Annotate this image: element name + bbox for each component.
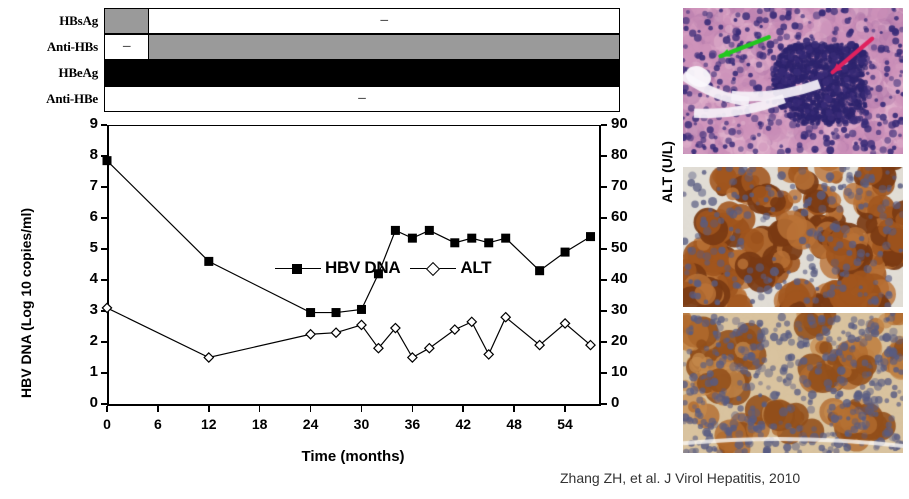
data-point-marker — [501, 234, 510, 243]
data-point-marker — [450, 325, 459, 334]
serology-marker-label: HBeAg — [0, 65, 104, 81]
data-point-marker — [467, 317, 476, 326]
data-point-marker — [408, 234, 417, 243]
data-point-marker — [331, 328, 340, 337]
data-point-marker — [586, 232, 595, 241]
histology-image — [683, 167, 903, 307]
data-point-marker — [467, 234, 476, 243]
serology-marker-label: HBsAg — [0, 13, 104, 29]
serology-segment-white: – — [148, 8, 620, 34]
he-stain-panel — [683, 8, 903, 154]
data-point-marker — [357, 320, 366, 329]
serology-track: – — [104, 8, 620, 34]
data-point-marker — [306, 330, 315, 339]
serology-row: HBsAg– — [0, 8, 620, 34]
data-point-marker — [306, 308, 315, 317]
data-point-marker — [204, 257, 213, 266]
figure-root: HBsAg–Anti-HBs–HBeAgAnti-HBe– HBV DNA (L… — [0, 0, 909, 499]
data-point-marker — [408, 353, 417, 362]
data-point-marker — [425, 226, 434, 235]
series-line-hbv-dna — [107, 161, 591, 313]
data-point-marker — [391, 226, 400, 235]
series-layer — [0, 118, 672, 468]
data-point-marker — [484, 238, 493, 247]
serology-row: Anti-HBe– — [0, 86, 620, 112]
data-point-marker — [535, 266, 544, 275]
data-point-marker — [332, 308, 341, 317]
serology-segment-white: – — [104, 34, 148, 60]
data-point-marker — [103, 156, 112, 165]
series-line-alt — [107, 308, 591, 358]
data-point-marker — [357, 305, 366, 314]
serology-track: – — [104, 34, 620, 60]
data-point-marker — [102, 303, 111, 312]
serology-row: Anti-HBs– — [0, 34, 620, 60]
negative-sign: – — [358, 91, 366, 106]
histology-image — [683, 8, 903, 154]
serology-segment-gray — [104, 8, 148, 34]
data-point-marker — [561, 248, 570, 257]
serology-track — [104, 60, 620, 86]
serology-row: HBeAg — [0, 60, 620, 86]
ihc-hbcag-panel — [683, 313, 903, 453]
serology-segment-gray — [148, 34, 620, 60]
data-point-marker — [425, 344, 434, 353]
data-point-marker — [484, 350, 493, 359]
negative-sign: – — [380, 13, 388, 28]
serology-track: – — [104, 86, 620, 112]
ihc-hbsag-panel — [683, 167, 903, 307]
data-point-marker — [374, 269, 383, 278]
serology-segment-black — [104, 60, 620, 86]
data-point-marker — [204, 353, 213, 362]
serology-segment-white: – — [104, 86, 620, 112]
serology-marker-label: Anti-HBs — [0, 39, 104, 55]
citation-text: Zhang ZH, et al. J Virol Hepatitis, 2010 — [560, 470, 800, 486]
data-point-marker — [450, 238, 459, 247]
negative-sign: – — [123, 39, 131, 54]
serology-marker-label: Anti-HBe — [0, 91, 104, 107]
histology-image — [683, 313, 903, 453]
serology-panel: HBsAg–Anti-HBs–HBeAgAnti-HBe– — [0, 8, 620, 112]
hbv-alt-line-chart: HBV DNA (Log 10 copies/ml) ALT (U/L) Tim… — [0, 118, 672, 468]
